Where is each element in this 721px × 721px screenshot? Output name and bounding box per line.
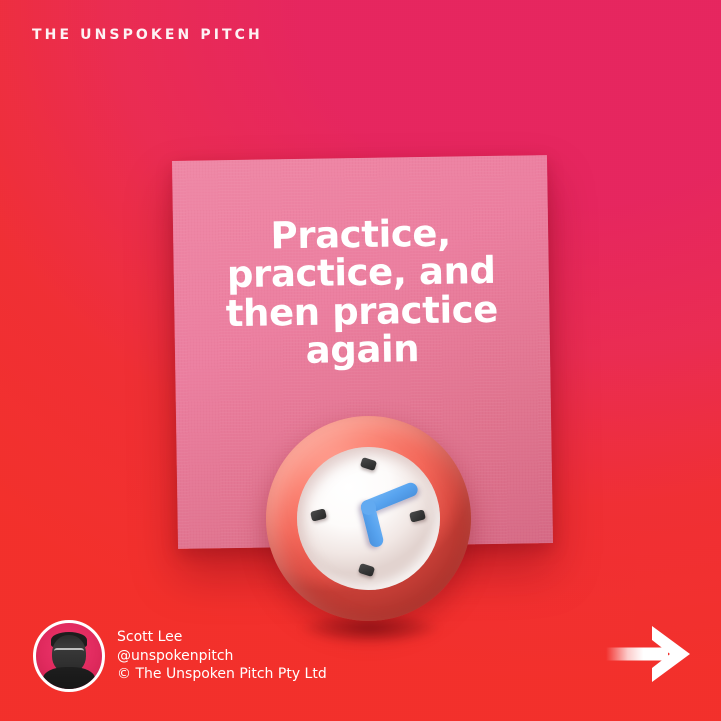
clock-center-pivot <box>361 500 376 515</box>
avatar-glasses <box>54 648 84 658</box>
social-post-slide: THE UNSPOKEN PITCH Practice, practice, a… <box>0 0 721 721</box>
avatar-body <box>43 667 95 692</box>
brand-header: THE UNSPOKEN PITCH <box>32 27 263 43</box>
clock-tick-12 <box>360 457 377 471</box>
author-handle: @unspokenpitch <box>117 647 327 665</box>
avatar <box>33 620 105 692</box>
author-name: Scott Lee <box>117 628 327 646</box>
author-details: Scott Lee @unspokenpitch © The Unspoken … <box>117 628 327 683</box>
clock-tick-9 <box>310 508 327 521</box>
quote-text: Practice, practice, and then practice ag… <box>173 213 550 373</box>
copyright-notice: © The Unspoken Pitch Pty Ltd <box>117 665 327 683</box>
quote-line-4: again <box>201 329 525 373</box>
clock-tick-6 <box>358 563 375 577</box>
arrow-right-icon[interactable] <box>604 624 694 684</box>
clock-tick-3 <box>409 509 426 522</box>
clock-icon <box>262 410 476 650</box>
clock-rim <box>266 416 471 621</box>
clock-face <box>297 447 440 590</box>
author-footer: Scott Lee @unspokenpitch © The Unspoken … <box>33 620 327 692</box>
